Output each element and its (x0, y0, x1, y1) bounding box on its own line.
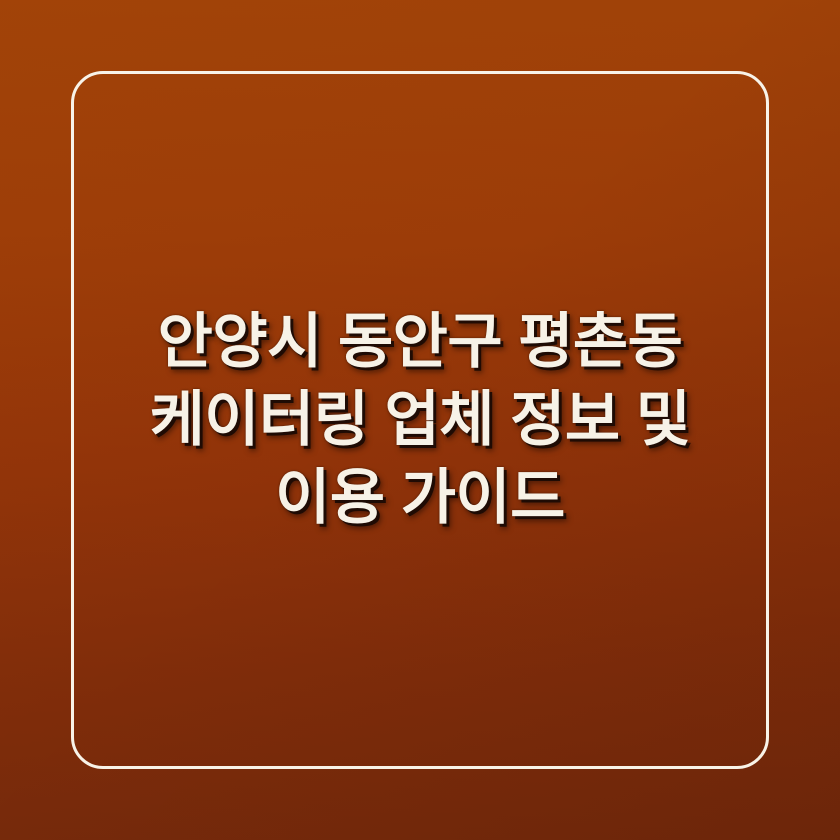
title-line-2: 케이터링 업체 정보 및 (96, 381, 744, 459)
title-line-1: 안양시 동안구 평촌동 (96, 303, 744, 381)
title-line-3: 이용 가이드 (96, 459, 744, 537)
thumbnail-card: 안양시 동안구 평촌동 케이터링 업체 정보 및 이용 가이드 (0, 0, 840, 840)
title-block: 안양시 동안구 평촌동 케이터링 업체 정보 및 이용 가이드 (0, 0, 840, 840)
